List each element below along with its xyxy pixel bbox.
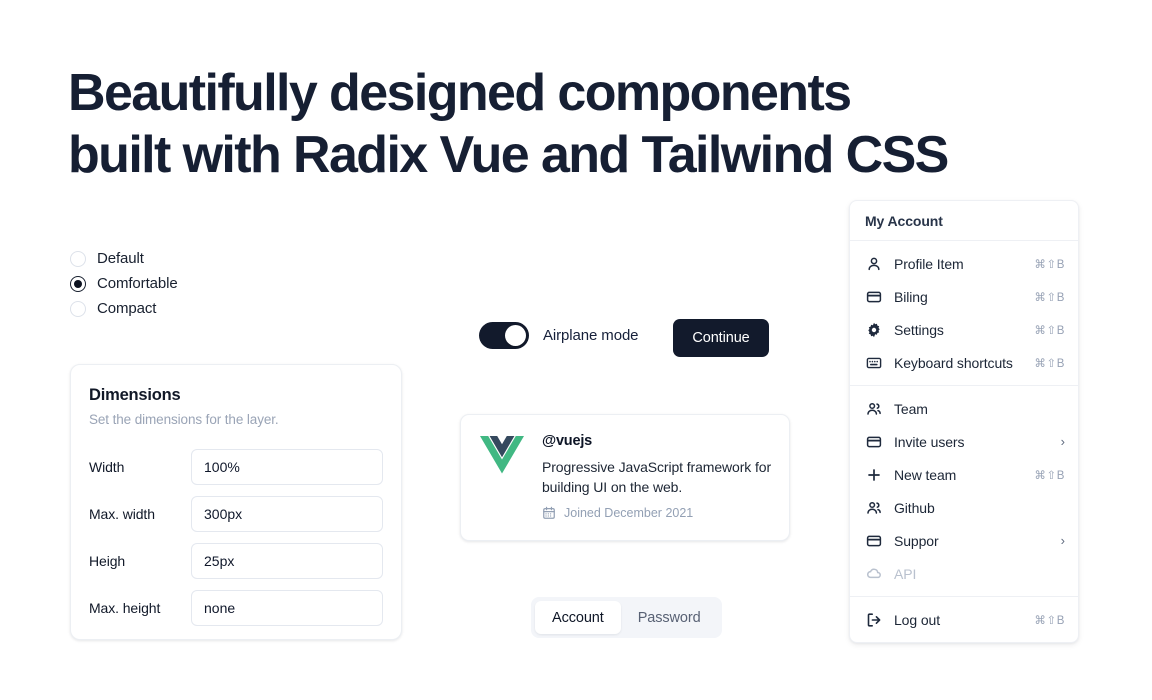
menu-item-shortcut: ⌘⇧B xyxy=(1034,613,1065,627)
menu-item-label: Invite users xyxy=(894,434,1049,450)
vue-joined-row: Joined December 2021 xyxy=(542,506,773,520)
vue-joined-text: Joined December 2021 xyxy=(564,506,693,520)
menu-item-invite-users[interactable]: Invite users › xyxy=(850,425,1078,458)
field-label: Heigh xyxy=(89,553,191,569)
continue-button[interactable]: Continue xyxy=(673,319,769,357)
menu-item-label: API xyxy=(894,566,1065,582)
menu-item-label: Keyboard shortcuts xyxy=(894,355,1022,371)
cloud-icon xyxy=(865,565,882,582)
menu-item-log-out[interactable]: Log out ⌘⇧B xyxy=(850,603,1078,636)
menu-item-profile[interactable]: Profile Item ⌘⇧B xyxy=(850,247,1078,280)
page-root: Beautifully designed components built wi… xyxy=(0,0,1152,700)
account-dropdown-menu: My Account Profile Item ⌘⇧B Bili xyxy=(849,200,1079,643)
vue-hover-card: @vuejs Progressive JavaScript framework … xyxy=(460,414,790,541)
keyboard-icon xyxy=(865,354,882,371)
radio-option-label: Comfortable xyxy=(97,275,178,292)
chevron-right-icon: › xyxy=(1061,435,1065,448)
menu-item-team[interactable]: Team xyxy=(850,392,1078,425)
page-title-line-1: Beautifully designed components xyxy=(68,64,851,122)
height-input[interactable]: 25px xyxy=(191,543,383,579)
radio-icon[interactable] xyxy=(70,301,86,317)
users-icon xyxy=(865,400,882,417)
menu-item-label: Profile Item xyxy=(894,256,1022,272)
field-label: Width xyxy=(89,459,191,475)
airplane-mode-label: Airplane mode xyxy=(543,327,638,344)
menu-item-label: Settings xyxy=(894,322,1022,338)
menu-group-team: Team Invite users › New team ⌘⇧B xyxy=(850,386,1078,596)
chevron-right-icon: › xyxy=(1061,534,1065,547)
vue-description: Progressive JavaScript framework for bui… xyxy=(542,457,773,497)
max-width-input[interactable]: 300px xyxy=(191,496,383,532)
airplane-mode-row: Airplane mode xyxy=(479,322,638,349)
card-icon xyxy=(865,532,882,549)
users-icon xyxy=(865,499,882,516)
menu-item-settings[interactable]: Settings ⌘⇧B xyxy=(850,313,1078,346)
menu-item-shortcut: ⌘⇧B xyxy=(1034,323,1065,337)
field-label: Max. width xyxy=(89,506,191,522)
field-row-max-height: Max. height none xyxy=(89,584,383,631)
calendar-icon xyxy=(542,506,556,520)
menu-item-label: New team xyxy=(894,467,1022,483)
menu-group-session: Log out ⌘⇧B xyxy=(850,597,1078,642)
menu-item-shortcut: ⌘⇧B xyxy=(1034,468,1065,482)
menu-item-github[interactable]: Github xyxy=(850,491,1078,524)
menu-item-shortcut: ⌘⇧B xyxy=(1034,257,1065,271)
max-height-input[interactable]: none xyxy=(191,590,383,626)
width-input[interactable]: 100% xyxy=(191,449,383,485)
field-row-width: Width 100% xyxy=(89,443,383,490)
user-icon xyxy=(865,255,882,272)
plus-icon xyxy=(865,466,882,483)
page-title-line-2: built with Radix Vue and Tailwind CSS xyxy=(68,124,1028,186)
tab-password[interactable]: Password xyxy=(621,601,718,634)
dimensions-fields: Width 100% Max. width 300px Heigh 25px M… xyxy=(89,443,383,631)
vue-hover-card-body: @vuejs Progressive JavaScript framework … xyxy=(542,433,773,540)
field-row-height: Heigh 25px xyxy=(89,537,383,584)
radio-option-default[interactable]: Default xyxy=(70,246,300,271)
vue-logo-icon xyxy=(480,433,524,540)
dimensions-title: Dimensions xyxy=(89,386,383,405)
dimensions-card: Dimensions Set the dimensions for the la… xyxy=(70,364,402,640)
menu-group-account: Profile Item ⌘⇧B Biling ⌘⇧B xyxy=(850,241,1078,385)
menu-item-keyboard-shortcuts[interactable]: Keyboard shortcuts ⌘⇧B xyxy=(850,346,1078,379)
menu-item-label: Team xyxy=(894,401,1065,417)
airplane-mode-switch[interactable] xyxy=(479,322,529,349)
menu-header-label: My Account xyxy=(850,201,1078,240)
radio-option-label: Default xyxy=(97,250,144,267)
menu-item-label: Log out xyxy=(894,612,1022,628)
menu-item-new-team[interactable]: New team ⌘⇧B xyxy=(850,458,1078,491)
switch-knob xyxy=(505,325,526,346)
field-row-max-width: Max. width 300px xyxy=(89,490,383,537)
gear-icon xyxy=(865,321,882,338)
menu-item-api: API xyxy=(850,557,1078,590)
tab-account[interactable]: Account xyxy=(535,601,621,634)
dimensions-description: Set the dimensions for the layer. xyxy=(89,412,383,427)
radio-icon[interactable] xyxy=(70,251,86,267)
radio-option-comfortable[interactable]: Comfortable xyxy=(70,271,300,296)
radio-group: Default Comfortable Compact xyxy=(70,246,300,321)
menu-item-label: Biling xyxy=(894,289,1022,305)
logout-icon xyxy=(865,611,882,628)
menu-item-label: Suppor xyxy=(894,533,1049,549)
card-icon xyxy=(865,433,882,450)
menu-item-label: Github xyxy=(894,500,1065,516)
radio-option-compact[interactable]: Compact xyxy=(70,296,300,321)
menu-item-support[interactable]: Suppor › xyxy=(850,524,1078,557)
vue-handle: @vuejs xyxy=(542,433,773,449)
field-label: Max. height xyxy=(89,600,191,616)
menu-item-shortcut: ⌘⇧B xyxy=(1034,290,1065,304)
menu-item-shortcut: ⌘⇧B xyxy=(1034,356,1065,370)
radio-option-label: Compact xyxy=(97,300,156,317)
card-icon xyxy=(865,288,882,305)
tabs-list: Account Password xyxy=(531,597,722,638)
menu-item-billing[interactable]: Biling ⌘⇧B xyxy=(850,280,1078,313)
page-title: Beautifully designed components built wi… xyxy=(68,62,1028,186)
radio-icon-selected[interactable] xyxy=(70,276,86,292)
